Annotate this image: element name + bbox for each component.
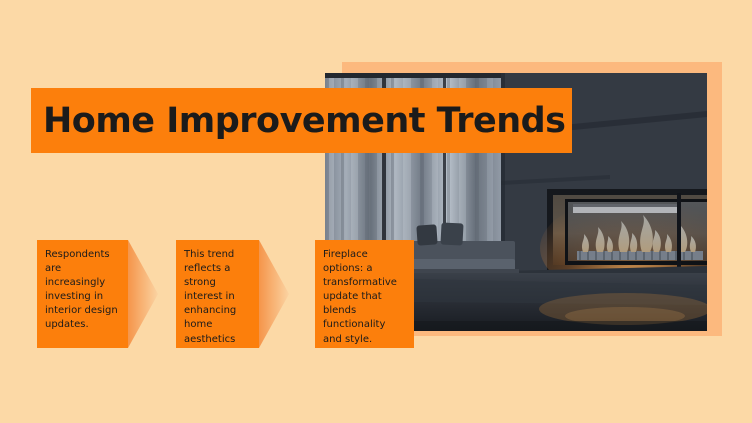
- step-body-2: This trend reflects a strong interest in…: [176, 240, 259, 348]
- step-body-3: Fireplace options: a transformative upda…: [315, 240, 414, 348]
- step-text-1: Respondents are increasingly investing i…: [45, 248, 121, 333]
- step-text-3: Fireplace options: a transformative upda…: [323, 248, 407, 347]
- step-box-1[interactable]: Respondents are increasingly investing i…: [37, 240, 128, 348]
- chevron-arrow-icon-1: [128, 240, 158, 348]
- step-body-1: Respondents are increasingly investing i…: [37, 240, 128, 348]
- step-box-3[interactable]: Fireplace options: a transformative upda…: [315, 240, 414, 348]
- step-text-2: This trend reflects a strong interest in…: [184, 248, 252, 347]
- slide-canvas: Home Improvement Trends Respondents are …: [0, 0, 752, 423]
- chevron-arrow-icon-2: [259, 240, 289, 348]
- step-box-2[interactable]: This trend reflects a strong interest in…: [176, 240, 259, 348]
- steps-row: Respondents are increasingly investing i…: [0, 0, 752, 423]
